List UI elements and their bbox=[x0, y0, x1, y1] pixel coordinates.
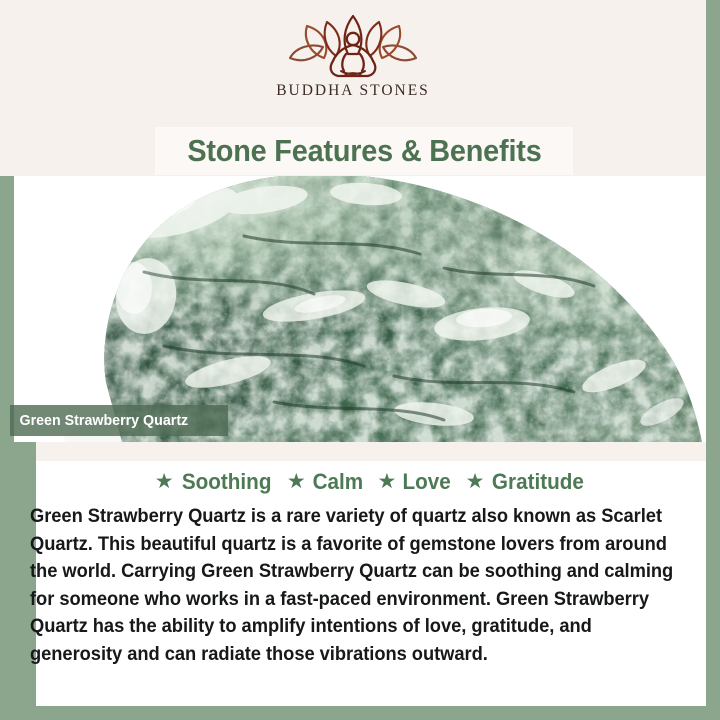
description-paragraph: Green Strawberry Quartz is a rare variet… bbox=[30, 503, 676, 668]
benefits-row: ★ Soothing ★ Calm ★ Love ★ Gratitude bbox=[36, 469, 706, 495]
star-icon: ★ bbox=[377, 471, 396, 492]
page-title-plaque: Stone Features & Benefits bbox=[155, 127, 573, 175]
header-band: BUDDHA STONES Stone Features & Benefits bbox=[0, 0, 706, 176]
brand-name: BUDDHA STONES bbox=[276, 82, 430, 100]
benefit-item-soothing: ★ Soothing bbox=[155, 469, 274, 495]
star-icon: ★ bbox=[155, 471, 174, 492]
star-icon: ★ bbox=[287, 471, 306, 492]
photo-caption-badge: Green Strawberry Quartz bbox=[10, 405, 228, 436]
section-divider bbox=[36, 442, 706, 461]
benefit-item-gratitude: ★ Gratitude bbox=[466, 469, 588, 495]
star-icon: ★ bbox=[466, 471, 485, 492]
stone-photo bbox=[14, 176, 706, 442]
benefit-label: Calm bbox=[312, 469, 363, 495]
benefit-item-calm: ★ Calm bbox=[287, 469, 365, 495]
page-title: Stone Features & Benefits bbox=[187, 133, 541, 169]
benefit-label: Love bbox=[403, 469, 451, 495]
infographic-card: BUDDHA STONES Stone Features & Benefits bbox=[0, 0, 720, 720]
brand-logo: BUDDHA STONES bbox=[0, 14, 706, 114]
benefit-label: Gratitude bbox=[492, 469, 584, 495]
description-section: ★ Soothing ★ Calm ★ Love ★ Gratitude Gre… bbox=[36, 461, 706, 706]
benefit-label: Soothing bbox=[181, 469, 271, 495]
photo-caption-label: Green Strawberry Quartz bbox=[10, 412, 188, 429]
benefit-item-love: ★ Love bbox=[377, 469, 452, 495]
lotus-meditation-icon bbox=[278, 14, 428, 80]
